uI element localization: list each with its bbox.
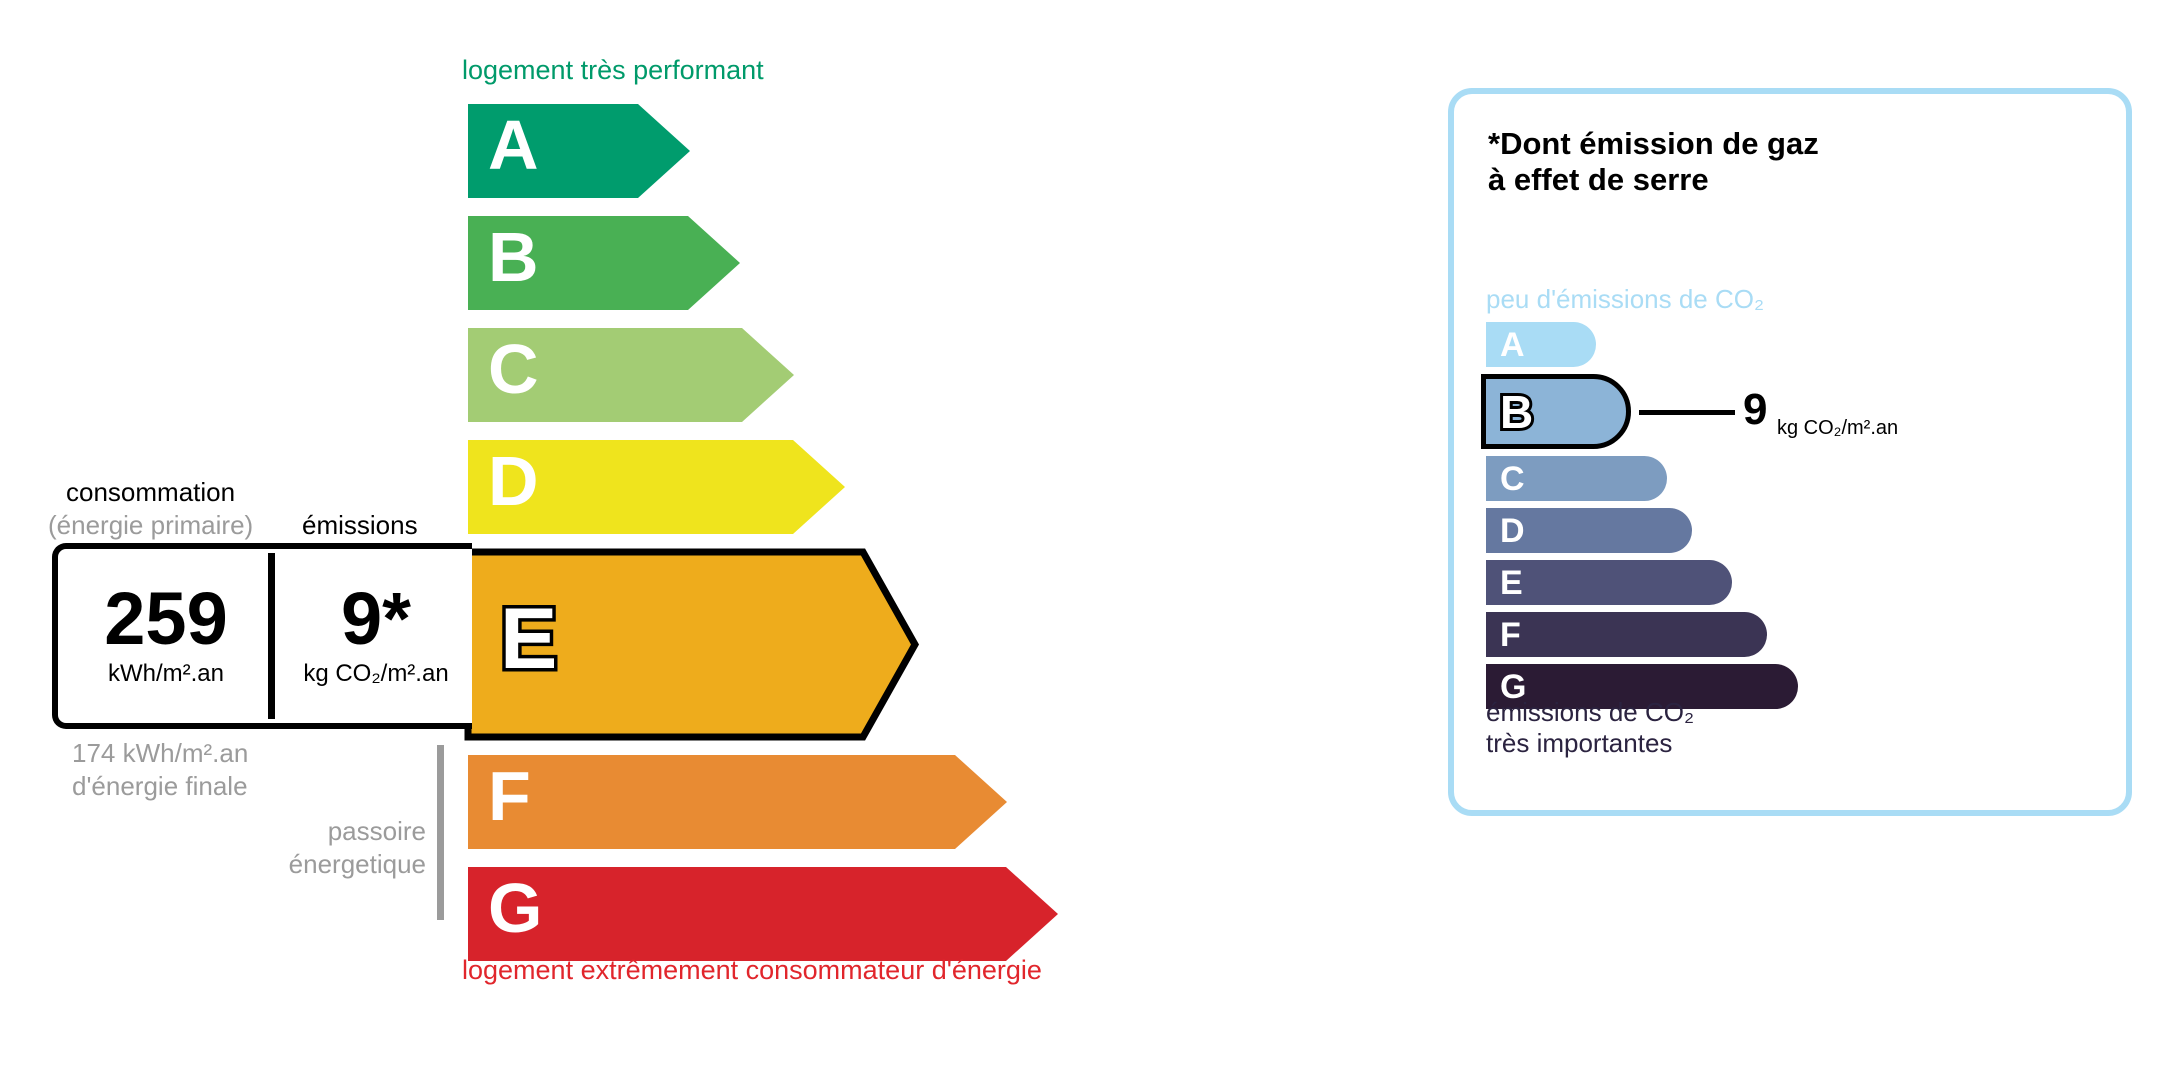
final-energy-label: d'énergie finale — [72, 771, 248, 802]
co2-value: 9 — [1743, 388, 1767, 432]
co2-leader-line — [1639, 410, 1735, 415]
energy-band-c: C — [462, 322, 788, 416]
energy-band-shape-f — [462, 749, 1013, 855]
co2-bar-letter-c: C — [1500, 462, 1525, 496]
co2-title-line2: à effet de serre — [1488, 162, 1819, 198]
co2-bar-letter-b: B — [1500, 389, 1533, 435]
energy-performance-diagram: logement très performant ABCDEFG logemen… — [0, 0, 1340, 1079]
co2-bar-a: A — [1486, 322, 1596, 367]
energy-band-b: B — [462, 210, 734, 304]
co2-bar-letter-a: A — [1500, 328, 1525, 362]
consumption-label-title: consommation — [66, 477, 235, 508]
consumption-unit: kWh/m².an — [108, 660, 224, 688]
emissions-unit: kg CO₂/m².an — [303, 660, 448, 688]
co2-bar-letter-d: D — [1500, 514, 1525, 548]
energy-band-letter-f: F — [488, 761, 531, 831]
energy-band-shape-g — [462, 861, 1064, 967]
consumption-label-subtitle: (énergie primaire) — [48, 510, 253, 541]
energy-band-letter-g: G — [488, 873, 542, 943]
co2-bar-f: F — [1486, 612, 1767, 657]
emissions-value: 9* — [341, 584, 411, 654]
energy-band-a: A — [462, 98, 684, 192]
co2-bar-b: B — [1481, 374, 1631, 449]
energy-band-d: D — [462, 434, 839, 528]
co2-bottom-caption: émissions de CO₂ très importantes — [1486, 697, 1694, 758]
co2-bar-e: E — [1486, 560, 1732, 605]
co2-bottom-caption-line1: émissions de CO₂ — [1486, 697, 1694, 728]
co2-bar-letter-e: E — [1500, 566, 1523, 600]
consumption-value: 259 — [104, 584, 227, 654]
co2-unit: kg CO₂/m².an — [1777, 418, 1898, 438]
energy-band-f: F — [462, 749, 1001, 843]
co2-bar-d: D — [1486, 508, 1692, 553]
emissions-value-cell: 9* kg CO₂/m².an — [274, 549, 478, 723]
emissions-label: émissions — [302, 510, 418, 541]
co2-bottom-caption-line2: très importantes — [1486, 728, 1694, 759]
passoire-bracket — [437, 745, 444, 920]
energy-band-letter-c: C — [488, 334, 539, 404]
co2-bar-letter-f: F — [1500, 618, 1521, 652]
co2-title-line1: *Dont émission de gaz — [1488, 126, 1819, 162]
co2-top-caption: peu d'émissions de CO₂ — [1486, 284, 1764, 315]
energy-bottom-caption: logement extrêmement consommateur d'éner… — [462, 955, 1042, 986]
value-box: 259 kWh/m².an 9* kg CO₂/m².an — [52, 543, 472, 729]
consumption-value-cell: 259 kWh/m².an — [58, 549, 274, 723]
energy-band-letter-d: D — [488, 446, 539, 516]
energy-band-g: G — [462, 861, 1052, 955]
co2-emissions-panel: *Dont émission de gaz à effet de serre p… — [1448, 88, 2132, 816]
energy-band-letter-a: A — [488, 110, 539, 180]
energy-band-letter-b: B — [488, 222, 539, 292]
energy-band-letter-e: E — [500, 596, 557, 682]
co2-bar-c: C — [1486, 456, 1667, 501]
energy-band-e: E — [462, 546, 909, 731]
passoire-label-line2: énergetique — [286, 849, 426, 880]
value-box-divider — [268, 553, 275, 719]
co2-panel-title: *Dont émission de gaz à effet de serre — [1488, 126, 1819, 198]
final-energy-value: 174 kWh/m².an — [72, 738, 248, 769]
energy-top-caption: logement très performant — [462, 55, 764, 86]
passoire-label-line1: passoire — [316, 816, 426, 847]
